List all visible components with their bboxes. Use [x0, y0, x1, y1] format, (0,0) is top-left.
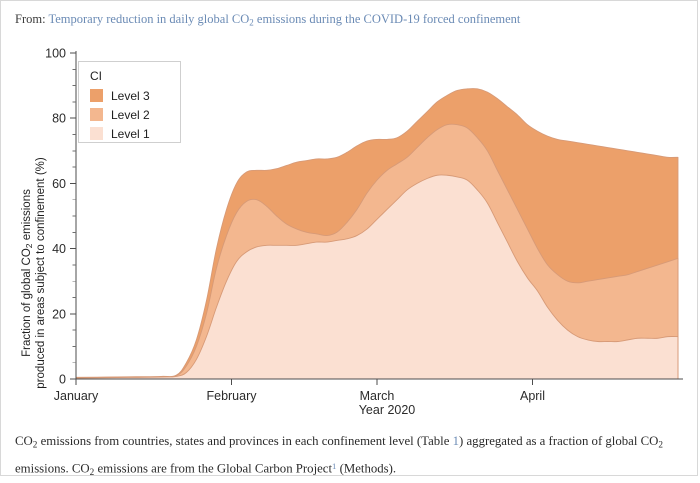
chart-region: 020406080100JanuaryFebruaryMarchApril Fr… [1, 37, 699, 425]
y-axis-title-seg2: emissions [21, 189, 33, 244]
caption-seg-3: ) aggregated as a fraction of global CO [459, 434, 658, 448]
caption-seg-2: emissions from countries, states and pro… [37, 434, 452, 448]
source-title-part2: emissions during the COVID-19 forced con… [254, 12, 521, 26]
y-axis-title-group: Fraction of global CO2 emissions produce… [21, 157, 47, 389]
legend-item-level-3[interactable]: Level 3 [90, 87, 180, 104]
from-label: From: [15, 12, 46, 26]
y-tick-label-60: 60 [52, 177, 66, 191]
figure-card: From: Temporary reduction in daily globa… [0, 0, 698, 476]
legend-label-level-2: Level 2 [111, 108, 150, 122]
figure-caption: CO2 emissions from countries, states and… [15, 431, 675, 483]
y-tick-label-40: 40 [52, 242, 66, 256]
x-tick-label-march: March [360, 389, 395, 403]
x-tick-label-february: February [206, 389, 257, 403]
caption-seg-1: CO [15, 434, 33, 448]
x-axis-title: Year 2020 [359, 403, 416, 417]
caption-subscript-2: 2 [658, 440, 663, 450]
legend-item-level-1[interactable]: Level 1 [90, 125, 180, 142]
legend-title: CI [90, 69, 180, 83]
y-axis-title-seg1: Fraction of global CO [21, 248, 33, 357]
legend-swatch-level-2 [90, 108, 103, 121]
source-title-link[interactable]: Temporary reduction in daily global CO2 … [48, 12, 520, 26]
y-tick-label-0: 0 [59, 373, 66, 387]
chart-legend: CI Level 3 Level 2 Level 1 [78, 61, 181, 143]
y-axis-title-line2: produced in areas subject to confinement… [35, 157, 47, 389]
legend-swatch-level-3 [90, 89, 103, 102]
y-tick-label-80: 80 [52, 112, 66, 126]
y-axis-title-line1: Fraction of global CO2 emissions [21, 189, 34, 357]
caption-seg-6: (Methods). [336, 461, 396, 475]
source-title-part1: Temporary reduction in daily global CO [48, 12, 249, 26]
caption-seg-5: emissions are from the Global Carbon Pro… [94, 461, 332, 475]
legend-item-level-2[interactable]: Level 2 [90, 106, 180, 123]
figure-source-line: From: Temporary reduction in daily globa… [15, 11, 520, 32]
x-tick-label-april: April [520, 389, 545, 403]
caption-seg-4: emissions. CO [15, 461, 90, 475]
legend-swatch-level-1 [90, 127, 103, 140]
y-tick-label-100: 100 [45, 47, 66, 61]
x-tick-label-january: January [54, 389, 99, 403]
legend-label-level-1: Level 1 [111, 127, 150, 141]
y-tick-label-20: 20 [52, 307, 66, 321]
legend-label-level-3: Level 3 [111, 89, 150, 103]
